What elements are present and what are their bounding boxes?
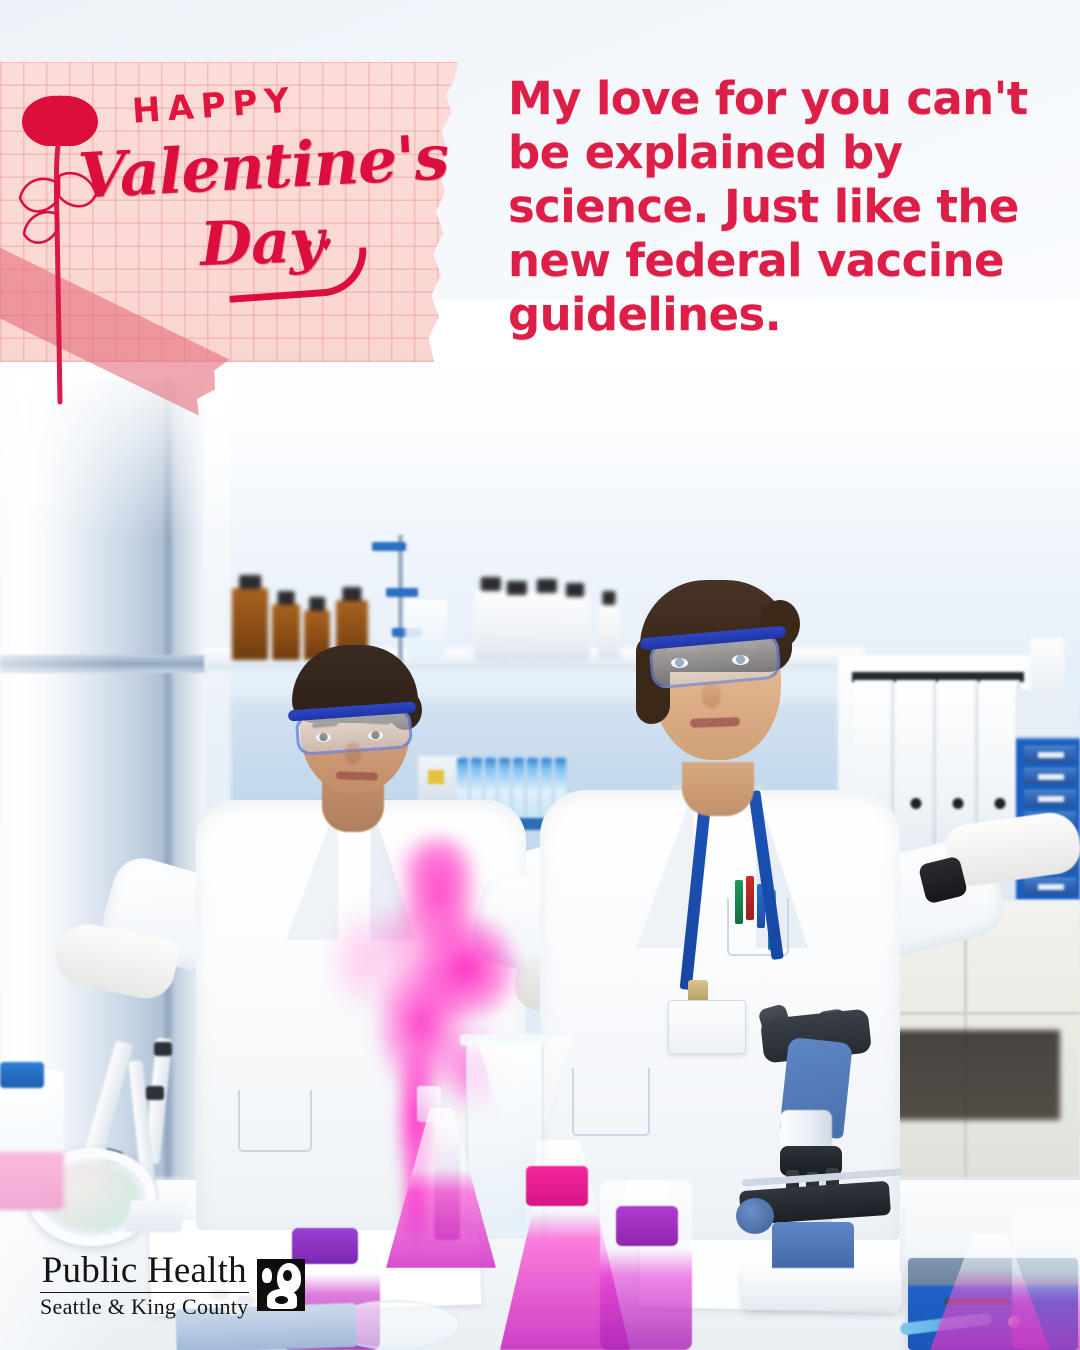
lamp-joint xyxy=(154,1042,172,1056)
ring-stand-rod xyxy=(398,535,403,665)
flask-cap-pink xyxy=(526,1166,588,1206)
wash-bottle-cap xyxy=(0,1062,44,1088)
microscope-base xyxy=(742,1268,902,1310)
bottle-cap-purple xyxy=(616,1206,678,1246)
headline-text: My love for you can't be explained by sc… xyxy=(508,72,1038,342)
right-scientist-mouth xyxy=(690,717,740,728)
microscope-focus-knob xyxy=(736,1198,774,1234)
logo-divider xyxy=(40,1292,249,1293)
window-mullion-horizontal xyxy=(0,655,205,673)
ring-stand-clamp xyxy=(372,542,406,551)
pen-red-icon xyxy=(746,876,754,920)
amber-bottle xyxy=(272,604,300,660)
pen-green-icon xyxy=(735,880,743,924)
reagent-bottle xyxy=(530,592,564,662)
reagent-bottle xyxy=(598,604,620,660)
lamp-joint xyxy=(146,1086,164,1100)
right-scientist-nose xyxy=(702,682,721,708)
poster-canvas: My love for you can't be explained by sc… xyxy=(0,0,1080,1350)
right-scientist-id-badge xyxy=(668,1000,746,1054)
reagent-bottle-far-right xyxy=(1012,1210,1080,1350)
left-scientist-mouth xyxy=(336,771,378,780)
left-scientist-nose xyxy=(345,742,361,764)
wash-bottle-liquid xyxy=(0,1152,64,1210)
logo-line-1: Public Health xyxy=(42,1252,247,1289)
small-flask xyxy=(405,600,447,660)
right-scientist-neck xyxy=(682,762,754,816)
reagent-bottle xyxy=(500,594,534,662)
amber-bottle xyxy=(232,588,268,660)
logo-faces-icon xyxy=(257,1259,305,1311)
beaker-rim xyxy=(460,1034,550,1046)
cabinet-shadow xyxy=(880,1030,1060,1120)
tall-white-bottle xyxy=(1030,638,1064,698)
logo-line-2: Seattle & King County xyxy=(40,1296,249,1318)
lamp-base xyxy=(125,1200,188,1232)
hazard-label-icon xyxy=(428,770,444,784)
left-scientist-coat-pocket xyxy=(238,1090,312,1152)
right-scientist-coat-pocket xyxy=(572,1068,650,1136)
ring-stand-clamp xyxy=(386,588,418,597)
logo-wordmark: Public Health Seattle & King County xyxy=(40,1252,249,1318)
reagent-bottle xyxy=(560,596,590,662)
public-health-logo: Public Health Seattle & King County xyxy=(40,1252,305,1318)
